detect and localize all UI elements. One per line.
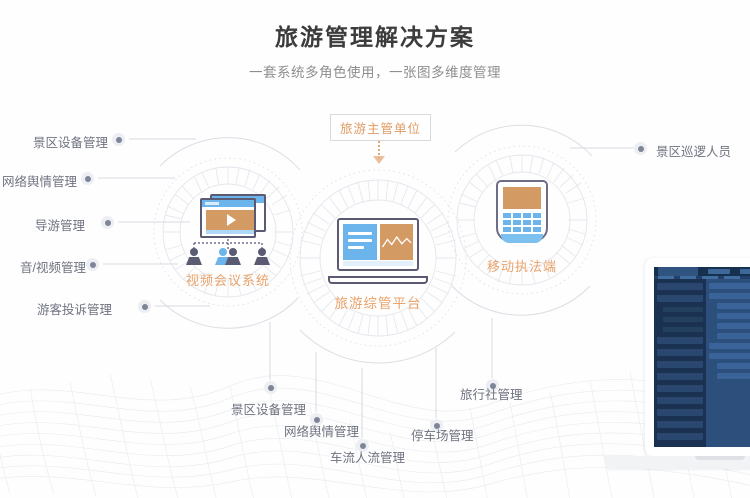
spoke-label-bottom-2[interactable]: 车流人流管理 xyxy=(330,447,405,466)
spoke-label-bottom-0[interactable]: 景区设备管理 xyxy=(231,399,306,418)
laptop-notch xyxy=(695,456,745,460)
spoke-dot-left-3[interactable] xyxy=(86,258,99,271)
dashboard-content xyxy=(706,279,750,447)
node-label-mobile-enforcement: 移动执法端 xyxy=(474,256,570,275)
dashboard-screenshot xyxy=(654,267,750,447)
laptop-base xyxy=(328,276,428,284)
node-mobile-enforcement[interactable]: 移动执法端 xyxy=(496,180,548,275)
laptop-mockup xyxy=(645,258,750,488)
spoke-dot-bottom-0[interactable] xyxy=(264,381,277,394)
person-pair-icon xyxy=(215,248,241,265)
spoke-dot-left-0[interactable] xyxy=(112,133,125,146)
laptop-icon xyxy=(328,218,428,284)
spoke-label-bottom-3[interactable]: 停车场管理 xyxy=(411,425,474,444)
play-icon xyxy=(227,214,236,226)
dashboard-topbar xyxy=(654,267,750,276)
node-label-video-conference: 视频会议系统 xyxy=(180,270,276,289)
video-screen xyxy=(206,210,254,230)
spoke-label-bottom-4[interactable]: 旅行社管理 xyxy=(460,384,523,403)
spoke-label-left-3[interactable]: 音/视频管理 xyxy=(20,257,86,276)
badge-label: 旅游主管单位 xyxy=(340,118,421,137)
solution-diagram-page: 旅游管理解决方案 一套系统多角色使用，一张图多维度管理 xyxy=(0,0,750,498)
mobile-body xyxy=(496,180,548,242)
spoke-dot-left-4[interactable] xyxy=(138,300,151,313)
badge-arrow-down-icon xyxy=(373,156,385,164)
laptop-screen xyxy=(337,218,419,271)
spoke-dot-left-2[interactable] xyxy=(101,216,114,229)
mobile-device-icon xyxy=(496,180,548,248)
video-window-front xyxy=(200,198,256,238)
mobile-keypad xyxy=(503,213,541,232)
spoke-label-left-4[interactable]: 游客投诉管理 xyxy=(37,299,112,318)
spoke-label-left-0[interactable]: 景区设备管理 xyxy=(33,132,108,151)
person-icon xyxy=(254,248,270,265)
person-icon xyxy=(186,248,202,265)
spoke-label-right-0[interactable]: 景区巡逻人员 xyxy=(656,141,731,160)
video-conference-icon xyxy=(180,192,276,264)
spoke-label-left-2[interactable]: 导游管理 xyxy=(35,215,85,234)
chart-panel xyxy=(380,224,414,260)
node-tourism-platform[interactable]: 旅游综管平台 xyxy=(328,218,428,312)
mobile-screen xyxy=(503,187,541,209)
dashboard-sidebar xyxy=(654,279,706,447)
list-panel xyxy=(343,224,377,260)
spoke-dot-right-0[interactable] xyxy=(634,142,647,155)
participants-icon xyxy=(186,247,270,265)
spoke-label-left-1[interactable]: 网络舆情管理 xyxy=(2,171,77,190)
spoke-dot-left-1[interactable] xyxy=(81,172,94,185)
node-video-conference[interactable]: 视频会议系统 xyxy=(180,192,276,289)
laptop-lid xyxy=(645,258,750,456)
spoke-label-bottom-1[interactable]: 网络舆情管理 xyxy=(284,421,359,440)
node-label-tourism-platform: 旅游综管平台 xyxy=(328,292,428,312)
badge-authority[interactable]: 旅游主管单位 xyxy=(330,114,431,141)
